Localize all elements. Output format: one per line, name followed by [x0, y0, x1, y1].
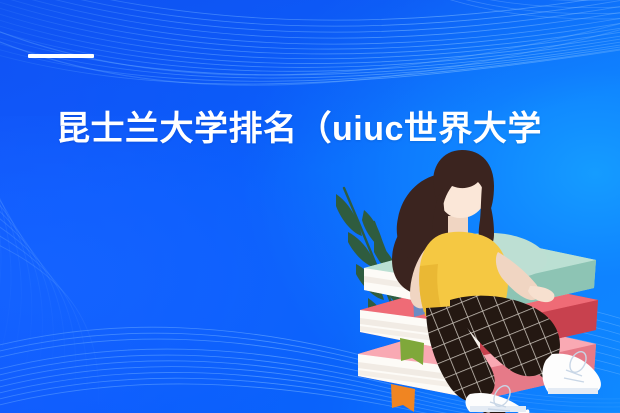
wave-group-left [0, 120, 99, 412]
bookmark-orange-icon [391, 384, 415, 412]
page-title: 昆士兰大学排名（uiuc世界大学 [56, 106, 616, 152]
illustration-woman-on-books [330, 148, 620, 413]
banner-image: 昆士兰大学排名（uiuc世界大学 [0, 0, 620, 413]
title-underline-accent [28, 54, 94, 58]
wave-group-top [0, 0, 620, 85]
